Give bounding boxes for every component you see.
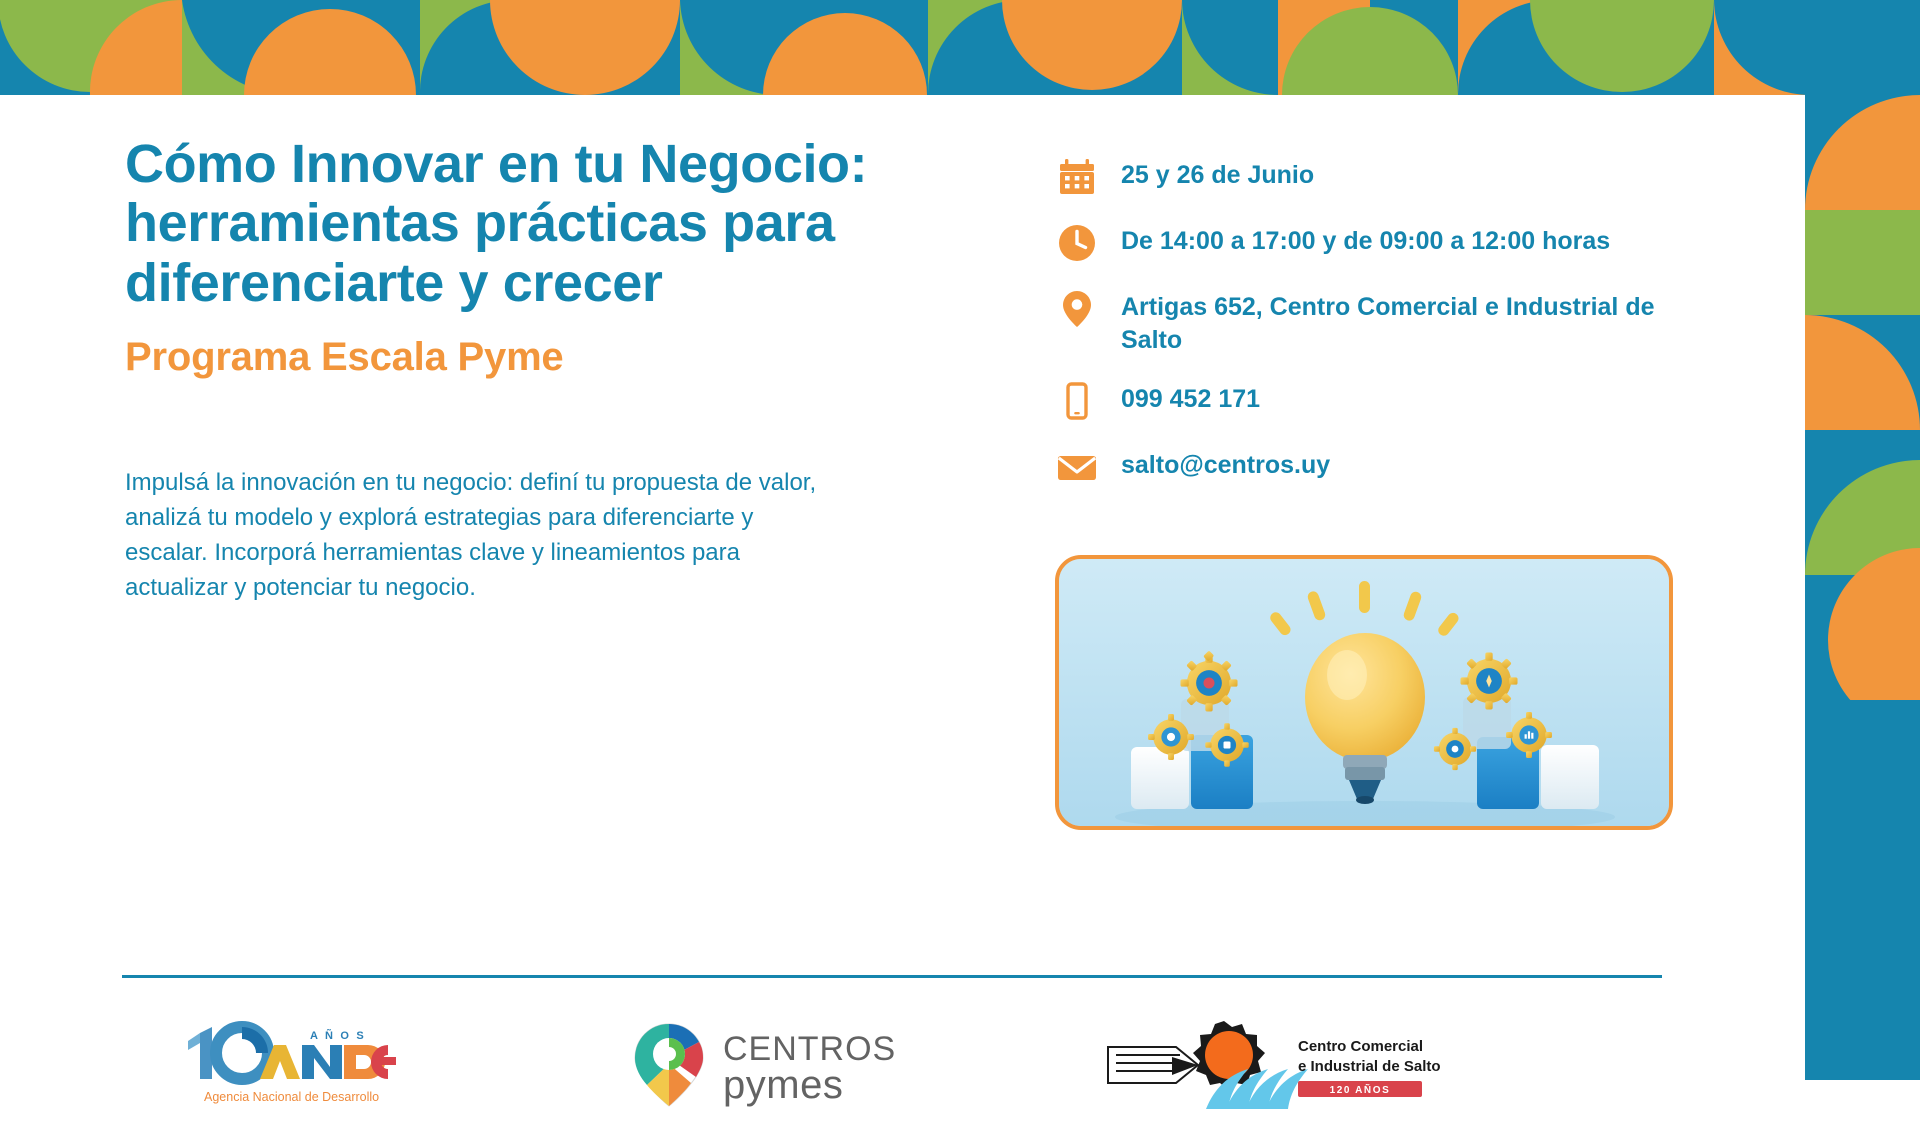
ande-tagline: Agencia Nacional de Desarrollo: [204, 1090, 379, 1104]
page-title: Cómo Innovar en tu Negocio: herramientas…: [125, 135, 915, 313]
map-pin-icon: [1055, 287, 1099, 331]
centros-pymes-logo: CENTROS pymes: [542, 1020, 1042, 1110]
ande-anos-text: A Ñ O S: [310, 1029, 366, 1042]
detail-text-email: salto@centros.uy: [1121, 445, 1330, 482]
clock-icon: [1055, 221, 1099, 265]
event-details-list: 25 y 26 de Junio De 14:00 a 17:00 y de 0…: [1055, 155, 1715, 489]
detail-text-time: De 14:00 a 17:00 y de 09:00 a 12:00 hora…: [1121, 221, 1610, 258]
lightbulb-innovation-illustration: [1055, 555, 1673, 830]
detail-row-email: salto@centros.uy: [1055, 445, 1715, 489]
ccis-name-line1: Centro Comercial: [1298, 1038, 1423, 1055]
centro-comercial-industrial-salto-logo: Centro Comercial e Industrial de Salto 1…: [1042, 1017, 1562, 1113]
ccis-anniversary-badge: 120 AÑOS: [1330, 1083, 1391, 1096]
centros-wordmark-line2: pymes: [723, 1063, 843, 1107]
left-content-column: Cómo Innovar en tu Negocio: herramientas…: [125, 135, 915, 605]
ande-logo: A Ñ O S Agencia Nacional de Desarrollo: [122, 1017, 542, 1113]
detail-text-location: Artigas 652, Centro Comercial e Industri…: [1121, 287, 1715, 357]
description-paragraph: Impulsá la innovación en tu negocio: def…: [125, 466, 825, 605]
detail-row-date: 25 y 26 de Junio: [1055, 155, 1715, 199]
detail-row-time: De 14:00 a 17:00 y de 09:00 a 12:00 hora…: [1055, 221, 1715, 265]
detail-row-phone: 099 452 171: [1055, 379, 1715, 423]
program-subtitle: Programa Escala Pyme: [125, 335, 915, 380]
envelope-icon: [1055, 445, 1099, 489]
footer-logo-row: A Ñ O S Agencia Nacional de Desarrollo: [122, 1000, 1662, 1130]
detail-row-location: Artigas 652, Centro Comercial e Industri…: [1055, 287, 1715, 357]
calendar-icon: [1055, 155, 1099, 199]
mobile-phone-icon: [1055, 379, 1099, 423]
ccis-name-line2: e Industrial de Salto: [1298, 1058, 1441, 1075]
content-card: Cómo Innovar en tu Negocio: herramientas…: [0, 95, 1805, 1080]
detail-text-date: 25 y 26 de Junio: [1121, 155, 1314, 192]
detail-text-phone: 099 452 171: [1121, 379, 1260, 416]
footer-divider: [122, 975, 1662, 978]
